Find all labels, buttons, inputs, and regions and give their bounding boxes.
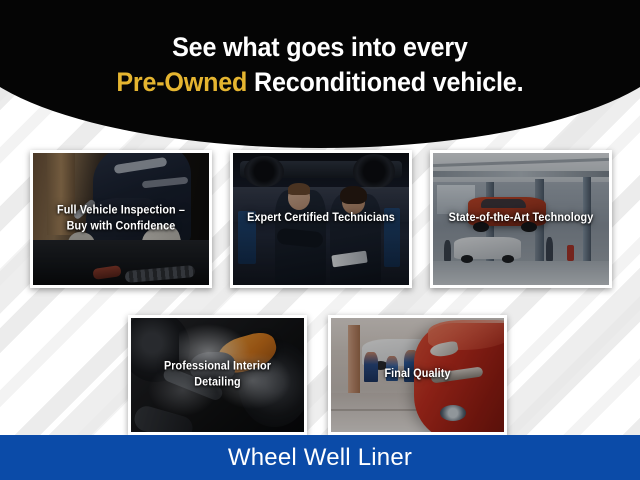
card-caption-line1: Final Quality — [341, 367, 494, 383]
headline-line-2-rest: Reconditioned vehicle. — [247, 67, 523, 97]
headline-highlight-pre-owned: Pre-Owned — [116, 67, 247, 97]
card-caption: Professional Interior Detailing — [131, 359, 304, 390]
footer-title-text: Wheel Well Liner — [228, 444, 412, 472]
footer-title-bar: Wheel Well Liner — [0, 435, 640, 480]
card-caption-line1: Full Vehicle Inspection – — [43, 203, 199, 219]
headline-line-1: See what goes into every — [172, 30, 468, 65]
card-caption: State-of-the-Art Technology — [433, 211, 609, 227]
feature-card-expert-certified-technicians[interactable]: Expert Certified Technicians — [230, 150, 412, 288]
feature-card-full-vehicle-inspection[interactable]: Full Vehicle Inspection – Buy with Confi… — [30, 150, 212, 288]
card-caption-line1: Professional Interior — [141, 359, 294, 375]
header-banner: See what goes into every Pre-Owned Recon… — [0, 0, 640, 148]
headline-line-1-text: See what goes into every — [172, 32, 468, 62]
card-caption-line2: Detailing — [141, 375, 294, 391]
feature-card-professional-interior-detailing[interactable]: Professional Interior Detailing — [128, 315, 307, 435]
card-caption-line1: State-of-the-Art Technology — [443, 211, 599, 227]
card-caption-line2: Buy with Confidence — [43, 219, 199, 235]
headline-line-2: Pre-Owned Reconditioned vehicle. — [116, 65, 523, 100]
infographic-canvas: Full Vehicle Inspection – Buy with Confi… — [0, 0, 640, 480]
card-caption: Expert Certified Technicians — [233, 211, 409, 227]
feature-card-final-quality[interactable]: Final Quality — [328, 315, 507, 435]
card-caption: Final Quality — [331, 367, 504, 383]
card-caption: Full Vehicle Inspection – Buy with Confi… — [33, 203, 209, 234]
card-caption-line1: Expert Certified Technicians — [243, 211, 399, 227]
feature-card-state-of-the-art-technology[interactable]: State-of-the-Art Technology — [430, 150, 612, 288]
